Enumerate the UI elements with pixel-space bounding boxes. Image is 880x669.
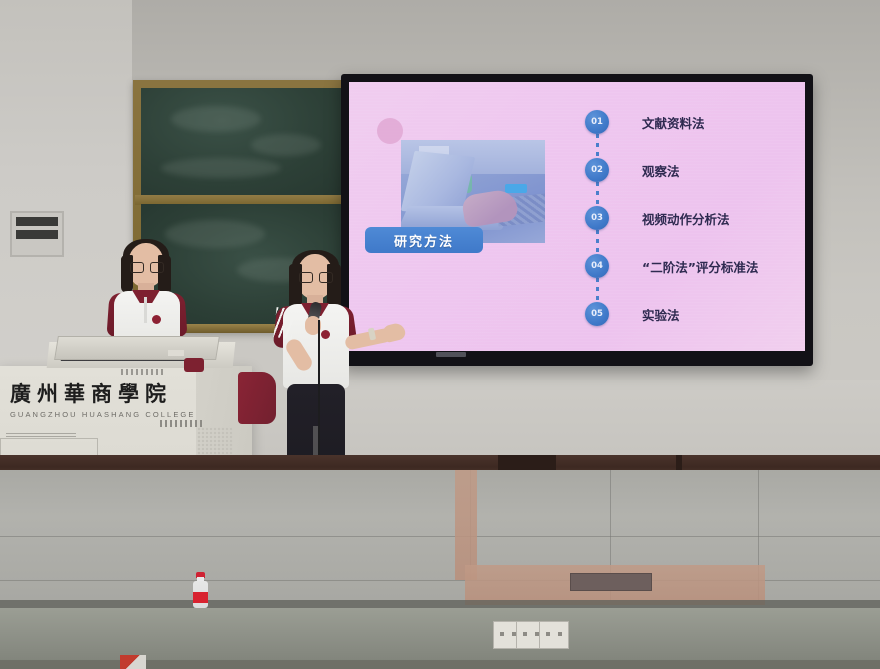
floor-tile-patch	[455, 470, 477, 580]
decorative-circle	[377, 118, 403, 144]
timeline-item: 03 视频动作分析法	[585, 206, 730, 230]
timeline-label-02: 观察法	[642, 161, 680, 180]
timeline-node-01: 01	[585, 110, 609, 134]
podium-signage-chinese: 廣州華商學院	[10, 378, 170, 408]
timeline-label-04: “二阶法”评分标准法	[642, 257, 758, 276]
lectern-control-strip	[160, 420, 204, 427]
timeline-item: 05 实验法	[585, 302, 680, 326]
bottle-label	[193, 592, 208, 603]
wall-vent-grille	[10, 211, 64, 257]
display-brand-logo	[436, 352, 466, 357]
method-timeline: 01 文献资料法 02 观察法 03 视频动作分析法 04 “二阶法”评分标准法…	[585, 110, 795, 330]
podium-signage-english: GUANGZHOU HUASHANG COLLEGE	[10, 410, 170, 419]
timeline-node-04: 04	[585, 254, 609, 278]
chair-edge	[184, 358, 204, 372]
wall-outlet-3[interactable]	[539, 621, 569, 649]
timeline-item: 02 观察法	[585, 158, 680, 182]
timeline-label-05: 实验法	[642, 305, 680, 324]
chair-backrest	[238, 372, 276, 424]
glasses-icon	[299, 272, 331, 281]
slide-background: 研究方法 01 文献资料法 02 观察法 03 视频动作分析法	[349, 82, 805, 351]
presentation-screen[interactable]: 研究方法 01 文献资料法 02 观察法 03 视频动作分析法	[349, 82, 805, 351]
tile-seam	[0, 536, 880, 537]
floor-marker	[120, 655, 146, 669]
classroom-presentation-photo: 研究方法 01 文献资料法 02 观察法 03 视频动作分析法	[0, 0, 880, 669]
hair	[158, 255, 171, 295]
timeline-item: 04 “二阶法”评分标准法	[585, 254, 758, 278]
lectern-control-labels	[121, 369, 165, 375]
timeline-label-01: 文献资料法	[642, 113, 705, 132]
blackboard-upper-panel	[141, 88, 344, 195]
water-bottle[interactable]	[193, 572, 208, 608]
podium-signage: 廣州華商學院 GUANGZHOU HUASHANG COLLEGE	[10, 378, 170, 418]
lectern-device	[168, 350, 184, 356]
hair	[121, 255, 133, 293]
school-emblem	[321, 330, 330, 339]
floor-access-grate	[570, 573, 652, 591]
sleeve-stripes	[273, 307, 294, 339]
school-emblem	[152, 315, 161, 324]
glasses-icon	[130, 262, 162, 271]
shirt-placket	[144, 297, 147, 323]
timeline-item: 01 文献资料法	[585, 110, 705, 134]
timeline-node-05: 05	[585, 302, 609, 326]
timeline-node-02: 02	[585, 158, 609, 182]
timeline-node-03: 03	[585, 206, 609, 230]
lectern-lid[interactable]	[54, 336, 220, 360]
timeline-label-03: 视频动作分析法	[642, 209, 730, 228]
